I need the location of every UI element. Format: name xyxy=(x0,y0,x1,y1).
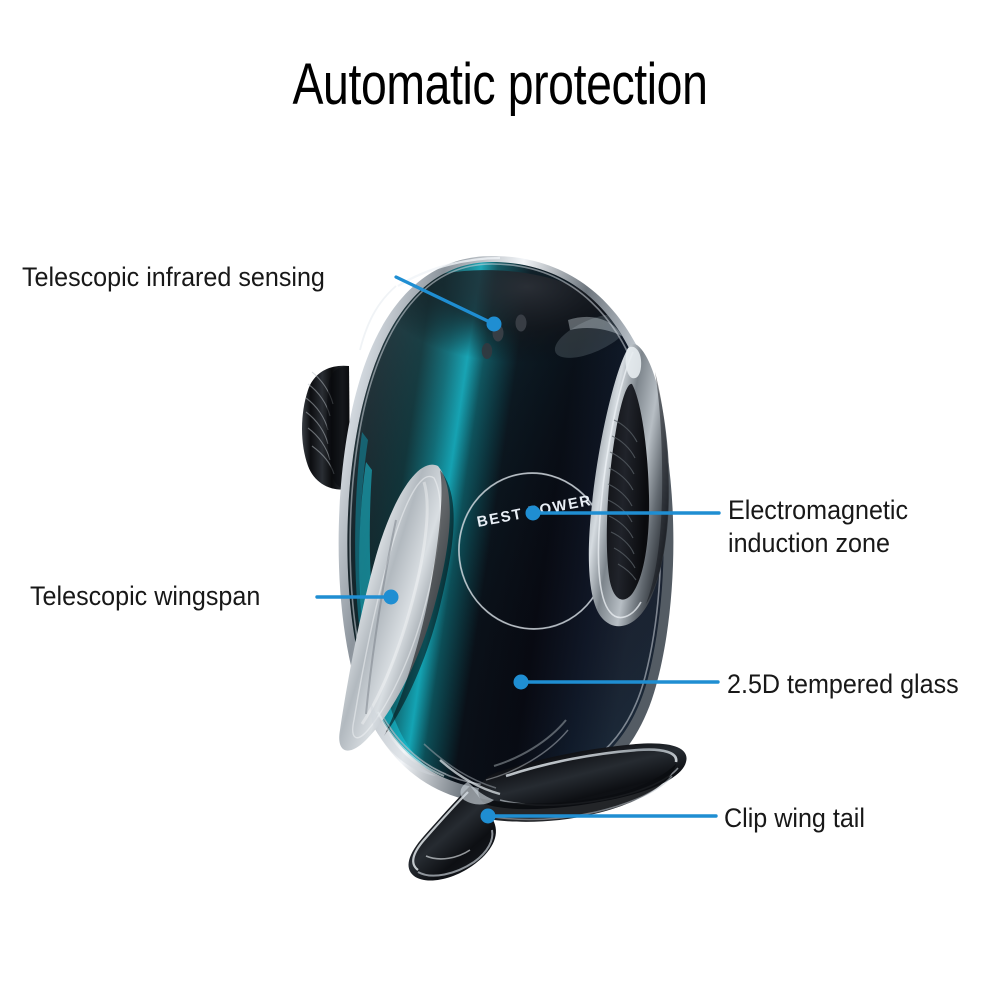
callout-label-tempered-glass: 2.5D tempered glass xyxy=(727,668,959,701)
callout-label-wingspan: Telescopic wingspan xyxy=(30,580,260,613)
infographic-canvas: Automatic protection xyxy=(0,0,1000,1000)
callout-label-electromagnetic: Electromagneticinduction zone xyxy=(728,494,961,560)
callout-label-electromagnetic-line2: induction zone xyxy=(728,528,890,558)
callout-label-infrared: Telescopic infrared sensing xyxy=(22,261,325,294)
callout-label-clip-wing-tail: Clip wing tail xyxy=(724,802,865,835)
callout-label-electromagnetic-line1: Electromagnetic xyxy=(728,495,908,525)
